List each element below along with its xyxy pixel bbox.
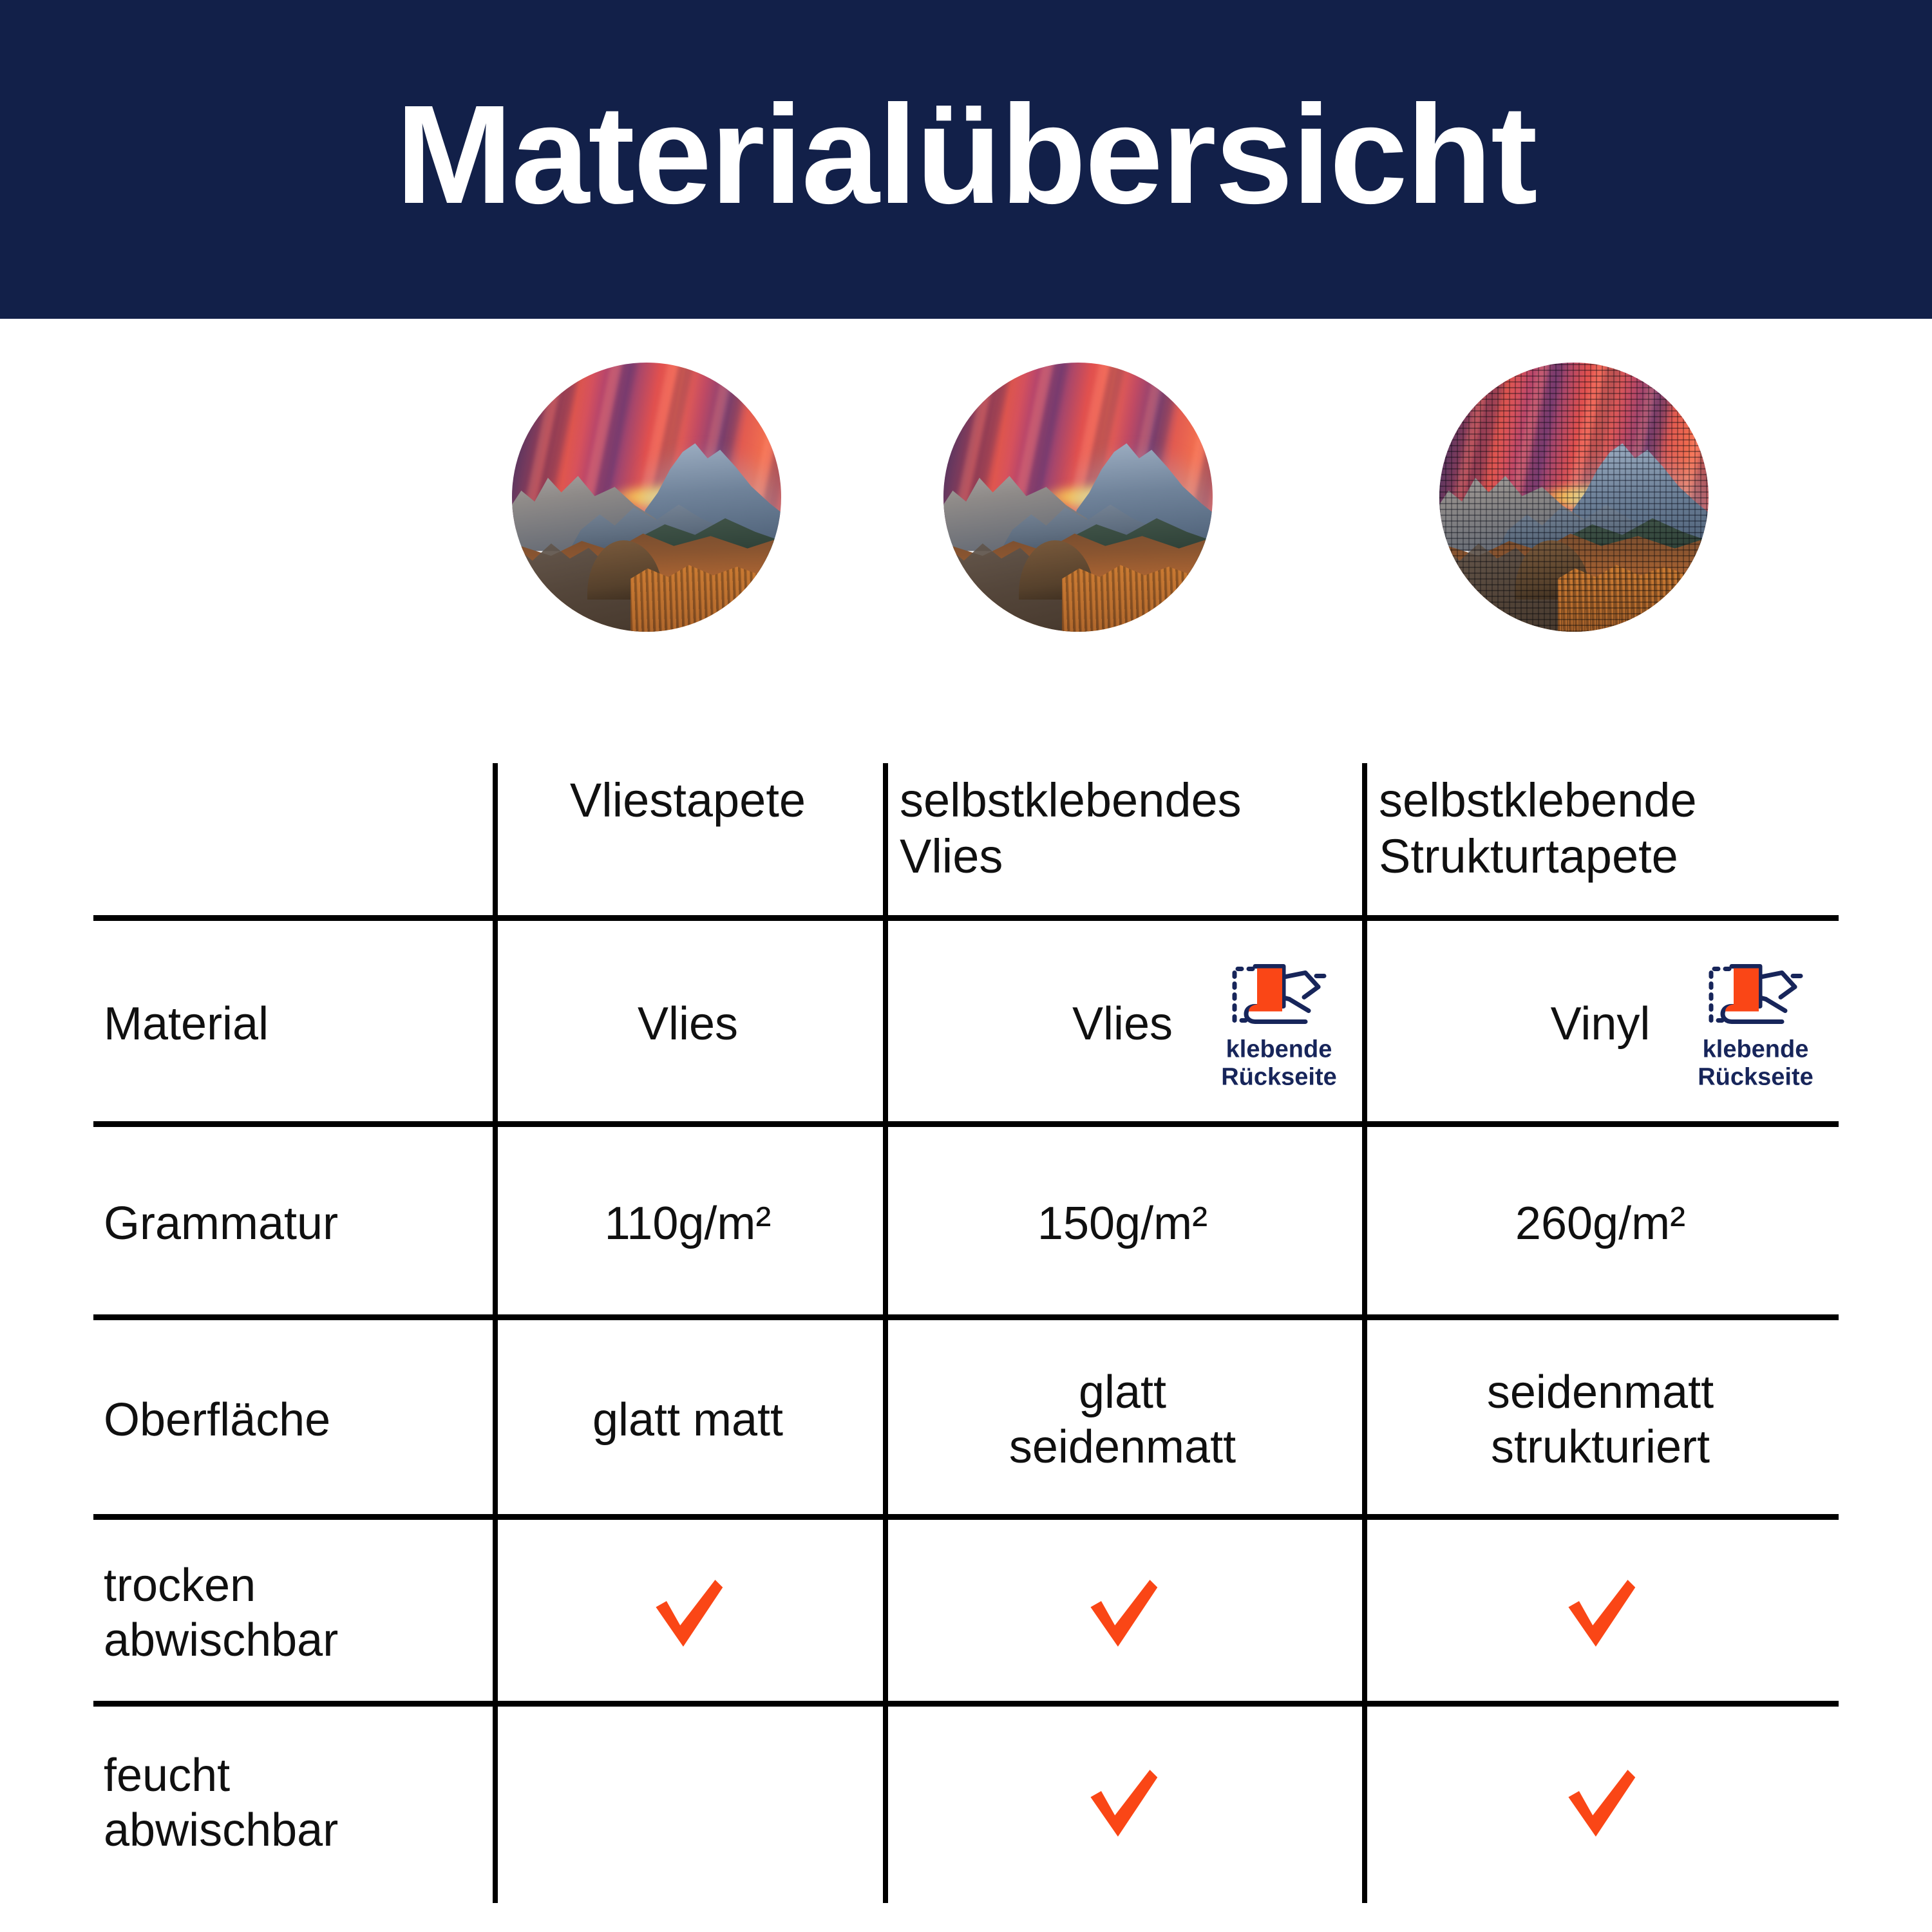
mountain-sunset-image xyxy=(1439,363,1709,632)
row-divider xyxy=(93,1701,1839,1707)
cell-trocken-selbstklebende-strukturtapete xyxy=(1362,1520,1839,1707)
cell-grammatur-selbstklebendes-vlies: 150g/m² xyxy=(883,1127,1362,1320)
table-row: Grammatur 110g/m² 150g/m² 260g/m² xyxy=(93,1127,1839,1320)
row-label-oberflaeche: Oberfläche xyxy=(93,1320,493,1520)
adhesive-back-badge: klebende Rückseite xyxy=(1681,957,1830,1090)
structure-texture-overlay xyxy=(1439,363,1709,632)
adhesive-back-badge: klebende Rückseite xyxy=(1205,957,1353,1090)
table-row: trocken abwischbar xyxy=(93,1520,1839,1707)
row-divider xyxy=(93,1514,1839,1520)
material-preview-row xyxy=(0,363,1932,632)
cell-trocken-selbstklebendes-vlies xyxy=(883,1520,1362,1707)
check-mark-icon xyxy=(1562,1575,1638,1651)
row-label-material: Material xyxy=(93,921,493,1127)
row-label-feucht-abwischbar: feucht abwischbar xyxy=(93,1707,493,1900)
check-mark-icon xyxy=(1084,1575,1160,1651)
mountain-sunset-image xyxy=(512,363,781,632)
cell-material-vliestapete: Vlies xyxy=(493,921,883,1127)
row-divider xyxy=(93,1314,1839,1320)
table-row: Material Vlies Vlies xyxy=(93,921,1839,1127)
cell-oberflaeche-selbstklebende-strukturtapete: seidenmatt strukturiert xyxy=(1362,1320,1839,1520)
row-divider xyxy=(93,1121,1839,1127)
cell-material-selbstklebende-strukturtapete: Vinyl klebende Rück xyxy=(1362,921,1839,1127)
row-divider xyxy=(93,915,1839,921)
cell-feucht-vliestapete xyxy=(493,1707,883,1900)
cell-oberflaeche-vliestapete: glatt matt xyxy=(493,1320,883,1520)
cell-feucht-selbstklebende-strukturtapete xyxy=(1362,1707,1839,1900)
table-header-row: Vliestapete selbstklebendes Vlies selbst… xyxy=(93,763,1839,921)
adhesive-back-label: klebende Rückseite xyxy=(1221,1036,1337,1090)
material-comparison-table: Vliestapete selbstklebendes Vlies selbst… xyxy=(93,763,1839,1900)
page-title: Materialübersicht xyxy=(395,85,1536,225)
mountain-sunset-image xyxy=(943,363,1213,632)
header-cell-selbstklebendes-vlies: selbstklebendes Vlies xyxy=(883,763,1362,921)
check-mark-icon xyxy=(1562,1765,1638,1841)
adhesive-back-icon xyxy=(1701,957,1810,1032)
adhesive-back-label: klebende Rückseite xyxy=(1698,1036,1814,1090)
cell-value: Vlies xyxy=(1072,997,1173,1052)
page-header-band: Materialübersicht xyxy=(0,0,1932,319)
cell-material-selbstklebendes-vlies: Vlies klebende Rück xyxy=(883,921,1362,1127)
adhesive-back-icon xyxy=(1224,957,1334,1032)
check-mark-icon xyxy=(1084,1765,1160,1841)
cell-grammatur-vliestapete: 110g/m² xyxy=(493,1127,883,1320)
cell-grammatur-selbstklebende-strukturtapete: 260g/m² xyxy=(1362,1127,1839,1320)
header-cell-blank xyxy=(93,763,493,921)
header-cell-vliestapete: Vliestapete xyxy=(493,763,883,921)
check-mark-icon xyxy=(650,1575,726,1651)
material-preview-vliestapete xyxy=(512,363,781,632)
cell-trocken-vliestapete xyxy=(493,1520,883,1707)
header-cell-selbstklebende-strukturtapete: selbstklebende Strukturtapete xyxy=(1362,763,1839,921)
table-row: Oberfläche glatt matt glatt seidenmatt s… xyxy=(93,1320,1839,1520)
material-preview-selbstklebendes-vlies xyxy=(943,363,1213,632)
row-label-trocken-abwischbar: trocken abwischbar xyxy=(93,1520,493,1707)
row-label-grammatur: Grammatur xyxy=(93,1127,493,1320)
material-preview-selbstklebende-strukturtapete xyxy=(1439,363,1709,632)
cell-value: Vinyl xyxy=(1551,997,1651,1052)
cell-oberflaeche-selbstklebendes-vlies: glatt seidenmatt xyxy=(883,1320,1362,1520)
cell-feucht-selbstklebendes-vlies xyxy=(883,1707,1362,1900)
table-row: feucht abwischbar xyxy=(93,1707,1839,1900)
